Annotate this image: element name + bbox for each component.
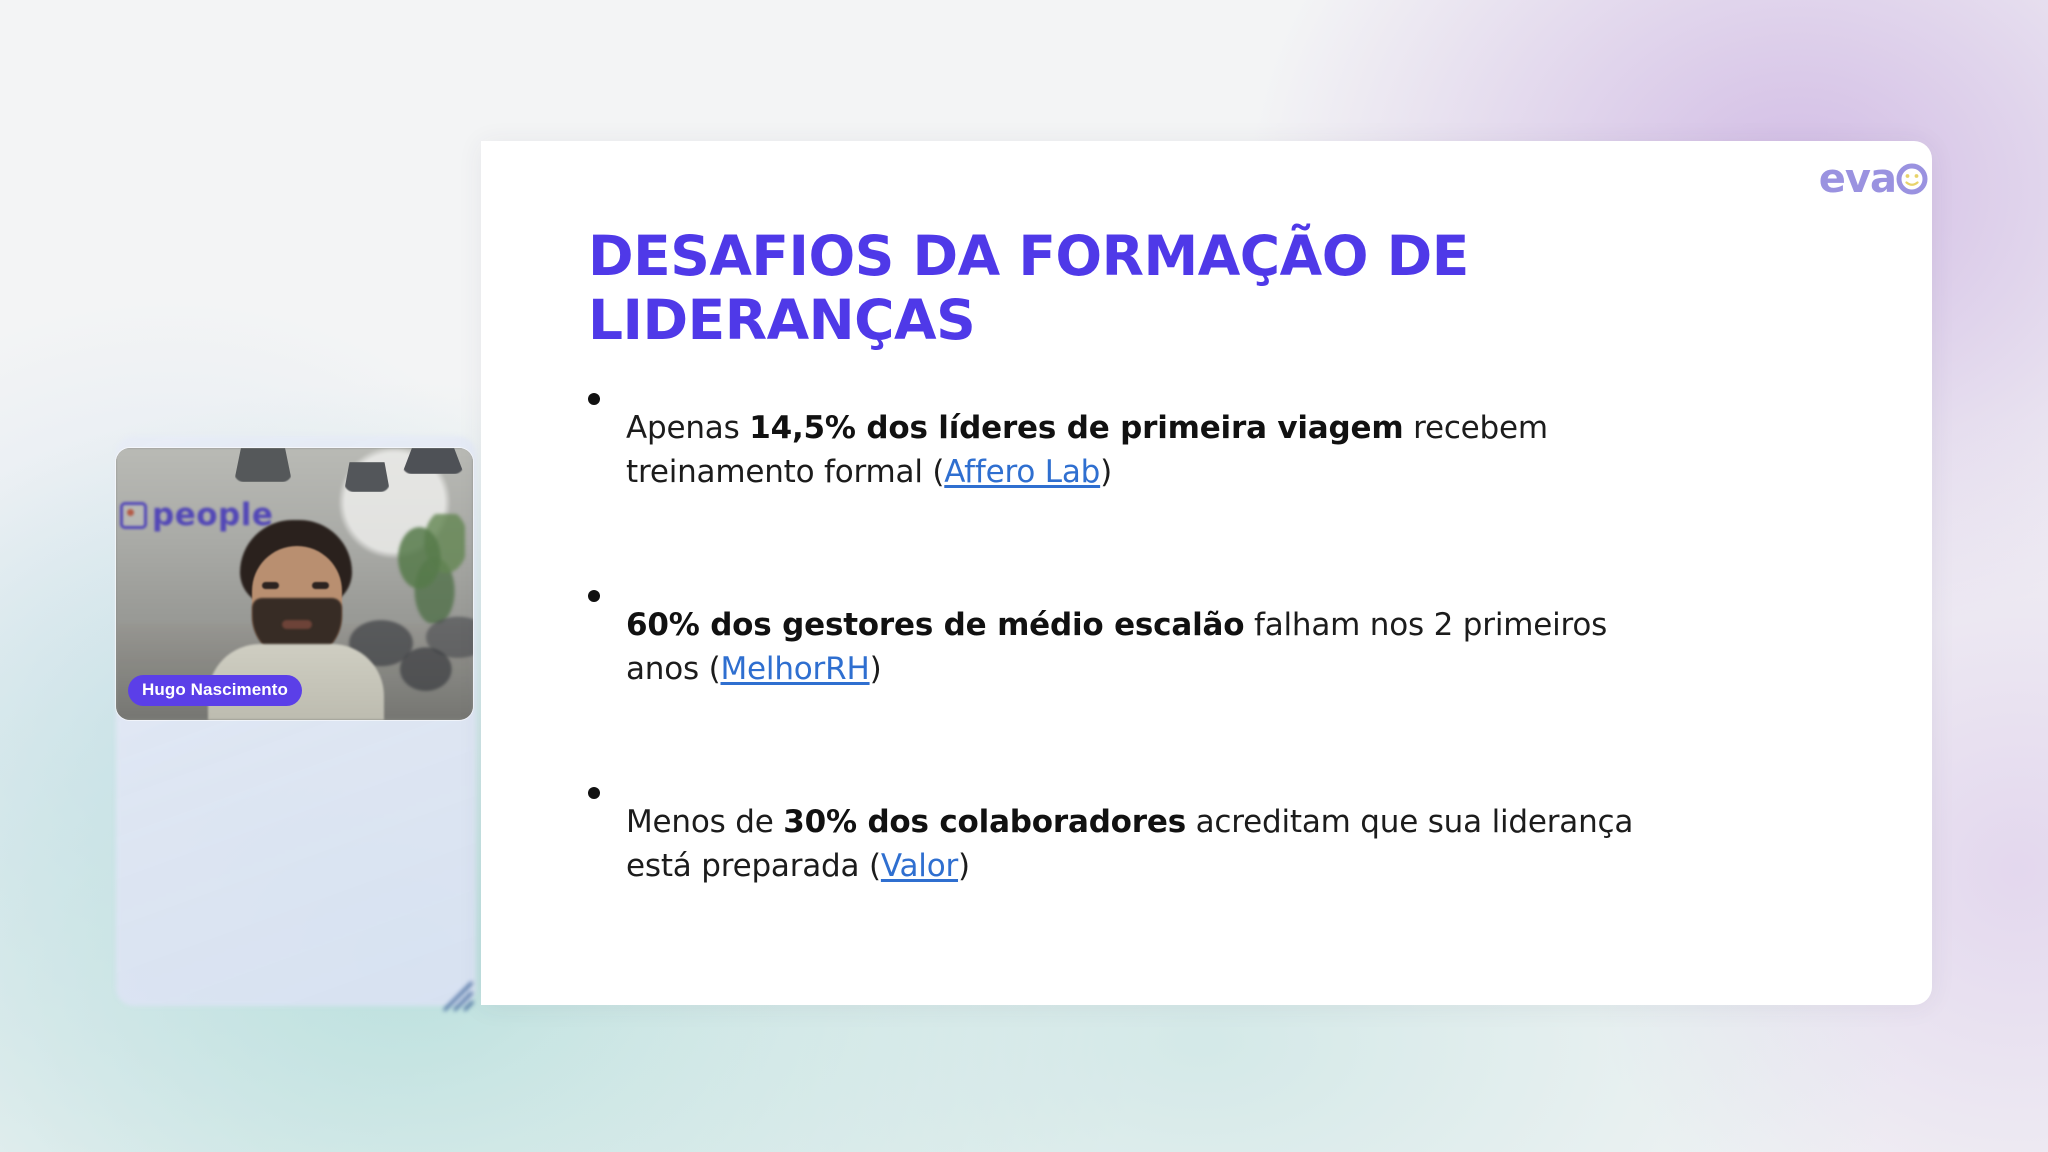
bullet-1-tail: ) [1100,454,1112,490]
bullet-3-tail: ) [958,848,970,884]
bullet-1-highlight: 14,5% dos líderes de primeira viagem [749,410,1403,446]
slide-title: DESAFIOS DA FORMAÇÃO DE LIDERANÇAS [588,225,1548,353]
list-item: Apenas 14,5% dos líderes de primeira via… [588,375,1678,525]
bullet-text: Menos de 30% dos colaboradores acreditam… [626,800,1678,888]
source-link-affero-lab[interactable]: Affero Lab [944,454,1100,490]
bullet-3-lead: Menos de [626,804,783,840]
pendant-lamp-icon [234,448,292,482]
pendant-lamp-icon [402,448,464,474]
eva-logo-text: eva [1819,159,1896,199]
bullet-2-tail: ) [870,651,882,687]
list-item: 60% dos gestores de médio escalão falham… [588,572,1678,722]
resize-handle-icon[interactable] [438,975,480,1011]
avatar-eye-right [312,582,329,589]
avatar-mouth [282,620,312,629]
bullet-text: 60% dos gestores de médio escalão falham… [626,603,1678,691]
bullet-text: Apenas 14,5% dos líderes de primeira via… [626,406,1678,494]
participant-name-badge: Hugo Nascimento [128,675,302,706]
bullet-dot-icon [588,590,600,602]
eva-brand-logo: eva [1819,159,1932,199]
list-item: Menos de 30% dos colaboradores acreditam… [588,769,1678,919]
source-link-valor[interactable]: Valor [881,848,958,884]
bullet-1-lead: Apenas [626,410,749,446]
avatar-eye-left [262,582,279,589]
bullet-2-highlight: 60% dos gestores de médio escalão [626,607,1244,643]
presentation-slide[interactable]: eva DESAFIOS DA FORMAÇÃO DE LIDERANÇAS A… [481,141,1932,1005]
bullet-dot-icon [588,787,600,799]
bullet-dot-icon [588,393,600,405]
smiley-face-icon [1894,161,1930,197]
slide-bullet-list: Apenas 14,5% dos líderes de primeira via… [588,375,1678,919]
bullet-3-highlight: 30% dos colaboradores [783,804,1186,840]
pendant-lamp-icon [344,462,390,492]
source-link-melhorrh[interactable]: MelhorRH [721,651,870,687]
participant-video-tile[interactable]: people Hugo Nascimento [116,448,473,720]
people-logo-mark-icon [120,502,147,529]
screen-share-viewport: people Hugo Nascimento eva [0,0,2048,1152]
